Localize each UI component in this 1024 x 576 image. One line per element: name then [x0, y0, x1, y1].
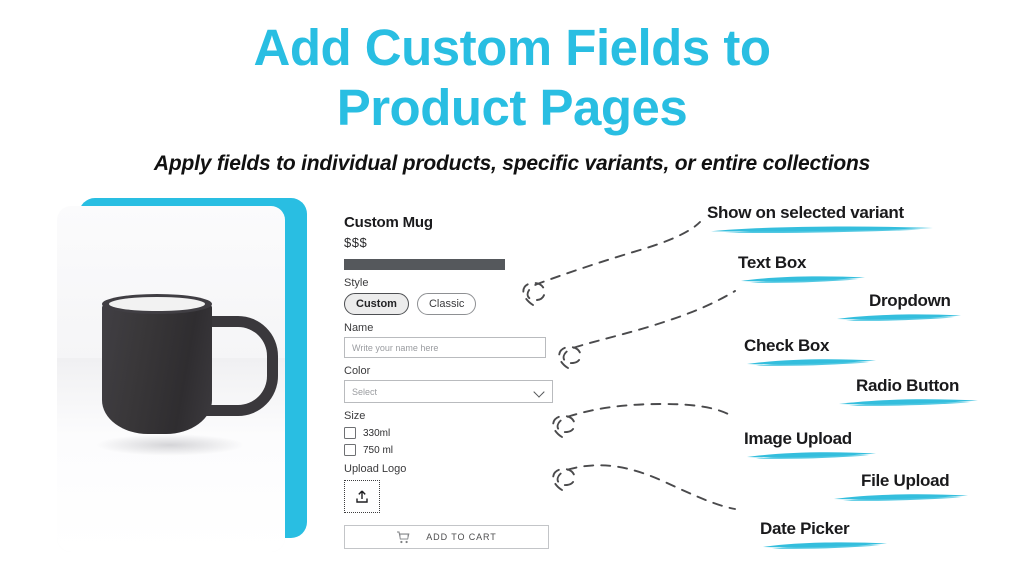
name-input[interactable]: Write your name here — [344, 337, 546, 358]
callout-label: Dropdown — [869, 291, 964, 311]
mug-interior — [109, 297, 205, 311]
checkbox-icon[interactable] — [344, 444, 356, 456]
callout-text-box: Text Box — [738, 253, 868, 284]
size-option-330ml-label: 330ml — [363, 428, 390, 439]
style-option-custom[interactable]: Custom — [344, 293, 409, 315]
upload-logo-dropzone[interactable] — [344, 480, 380, 513]
style-option-group: Custom Classic — [344, 293, 549, 315]
product-photo-card — [57, 206, 285, 552]
callout-label: Check Box — [744, 336, 879, 356]
brush-underline — [836, 397, 981, 407]
header: Add Custom Fields to Product Pages Apply… — [0, 18, 1024, 179]
connector-curve-1 — [523, 222, 700, 305]
shopping-cart-icon — [396, 531, 410, 544]
mug-shadow — [95, 434, 245, 456]
page-title: Add Custom Fields to Product Pages — [0, 18, 1024, 138]
callout-dropdown: Dropdown — [869, 291, 964, 322]
callout-show-on-selected-variant: Show on selected variant — [707, 203, 937, 234]
upload-tray-icon — [353, 488, 371, 506]
brush-underline — [738, 274, 868, 284]
product-form: Custom Mug $$$ Style Custom Classic Name… — [344, 214, 549, 549]
callout-label: Show on selected variant — [707, 203, 937, 223]
callout-label: Image Upload — [744, 429, 879, 449]
brush-underline — [831, 492, 971, 502]
connector-curve-2 — [559, 291, 735, 368]
mug-body — [102, 302, 212, 434]
size-option-330ml[interactable]: 330ml — [344, 427, 549, 439]
chevron-down-icon — [534, 388, 545, 395]
callout-label: Text Box — [738, 253, 868, 273]
size-option-750ml[interactable]: 750 ml — [344, 444, 549, 456]
brush-underline — [834, 312, 964, 322]
callout-radio-button: Radio Button — [856, 376, 981, 407]
callout-label: Radio Button — [856, 376, 981, 396]
upload-logo-label: Upload Logo — [344, 463, 549, 475]
style-option-classic[interactable]: Classic — [417, 293, 476, 315]
callout-label: Date Picker — [760, 519, 890, 539]
product-price: $$$ — [344, 235, 549, 250]
product-title: Custom Mug — [344, 214, 549, 231]
checkbox-icon[interactable] — [344, 427, 356, 439]
callout-check-box: Check Box — [744, 336, 879, 367]
size-label: Size — [344, 410, 549, 422]
color-label: Color — [344, 365, 549, 377]
color-select[interactable]: Select — [344, 380, 553, 403]
size-option-750ml-label: 750 ml — [363, 445, 393, 456]
add-to-cart-button[interactable]: ADD TO CART — [344, 525, 549, 549]
brush-underline — [707, 224, 937, 234]
brush-underline — [744, 450, 879, 460]
product-image-block — [57, 198, 307, 552]
connector-curve-4 — [553, 465, 735, 509]
variant-image-bar — [344, 259, 505, 270]
brush-underline — [760, 540, 890, 550]
callout-label: File Upload — [861, 471, 971, 491]
mug-photo — [57, 206, 285, 552]
callout-date-picker: Date Picker — [760, 519, 890, 550]
callout-file-upload: File Upload — [861, 471, 971, 502]
style-label: Style — [344, 277, 549, 289]
brush-underline — [744, 357, 879, 367]
add-to-cart-label: ADD TO CART — [426, 532, 496, 542]
name-label: Name — [344, 322, 549, 334]
connector-curve-3 — [553, 404, 728, 437]
color-select-value: Select — [352, 387, 377, 397]
page-subtitle: Apply fields to individual products, spe… — [0, 148, 1024, 179]
callout-image-upload: Image Upload — [744, 429, 879, 460]
